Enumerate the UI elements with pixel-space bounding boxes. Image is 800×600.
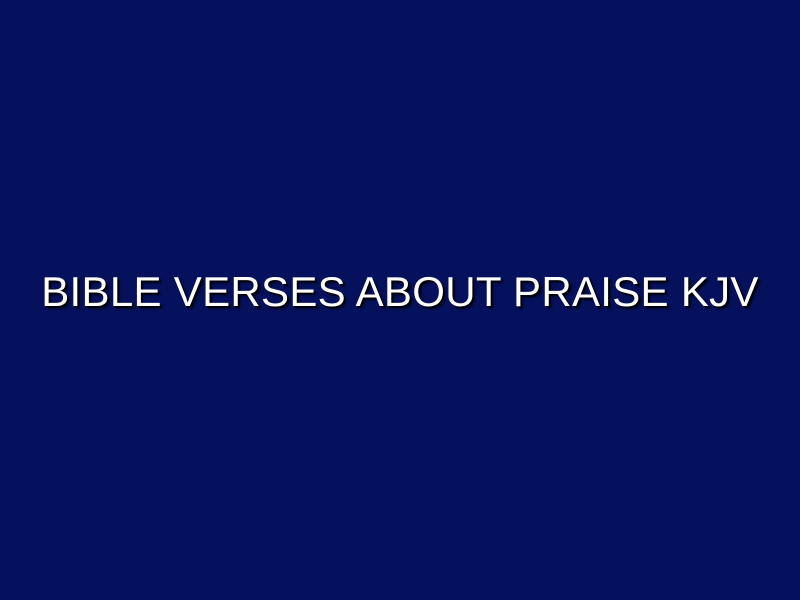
title-card: BIBLE VERSES ABOUT PRAISE KJV	[0, 0, 800, 600]
page-title: BIBLE VERSES ABOUT PRAISE KJV	[0, 270, 800, 315]
title-card-content: BIBLE VERSES ABOUT PRAISE KJV	[0, 270, 800, 315]
